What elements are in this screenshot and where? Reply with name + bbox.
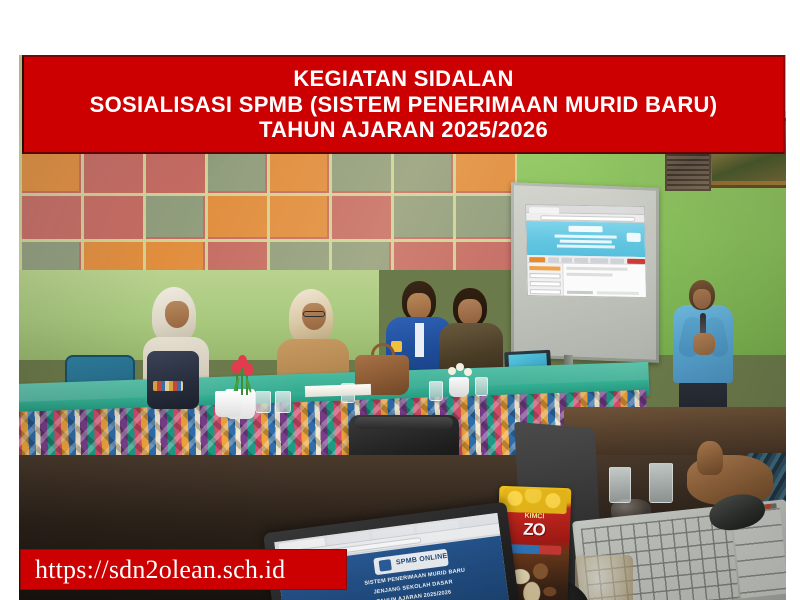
snack-chips-image [503, 488, 568, 514]
title-line-2: SOSIALISASI SPMB (SISTEM PENERIMAAN MURI… [90, 92, 718, 118]
navy-backpack [147, 351, 199, 409]
white-flower [448, 367, 456, 375]
drinking-glass-5 [475, 377, 488, 396]
title-line-1: KEGIATAN SIDALAN [90, 66, 718, 92]
black-bag-opening [355, 417, 453, 429]
white-flower [464, 368, 472, 376]
tulip-stems [232, 355, 250, 393]
drinking-glass-2 [275, 391, 291, 413]
drinking-glass-1 [255, 391, 271, 413]
thumb [697, 441, 723, 475]
url-banner[interactable]: https://sdn2olean.sch.id [20, 549, 347, 590]
title-banner: KEGIATAN SIDALAN SOSIALISASI SPMB (SISTE… [22, 55, 785, 154]
snack-brand-label: ZO [504, 516, 565, 544]
water-glass-right-2 [649, 463, 673, 503]
document-papers [305, 384, 371, 397]
title-line-3: TAHUN AJARAN 2025/2026 [90, 117, 718, 143]
projected-browser-window [525, 204, 647, 298]
backpack-strap-detail [153, 381, 183, 391]
projector-screen [511, 182, 659, 363]
snack-flavour-band [505, 544, 561, 555]
white-flower-vase [449, 377, 469, 397]
eyeglasses-icon [303, 311, 325, 317]
water-glass-right-1 [609, 467, 631, 503]
white-cup-1 [215, 391, 241, 417]
website-url[interactable]: https://sdn2olean.sch.id [21, 555, 285, 585]
drinking-glass-4 [429, 381, 443, 401]
white-flower [456, 363, 464, 371]
screenshot-root: KIMCI ZO SPMB ONLINE SISTE [0, 0, 800, 600]
spmb-logo-mark [379, 559, 392, 571]
